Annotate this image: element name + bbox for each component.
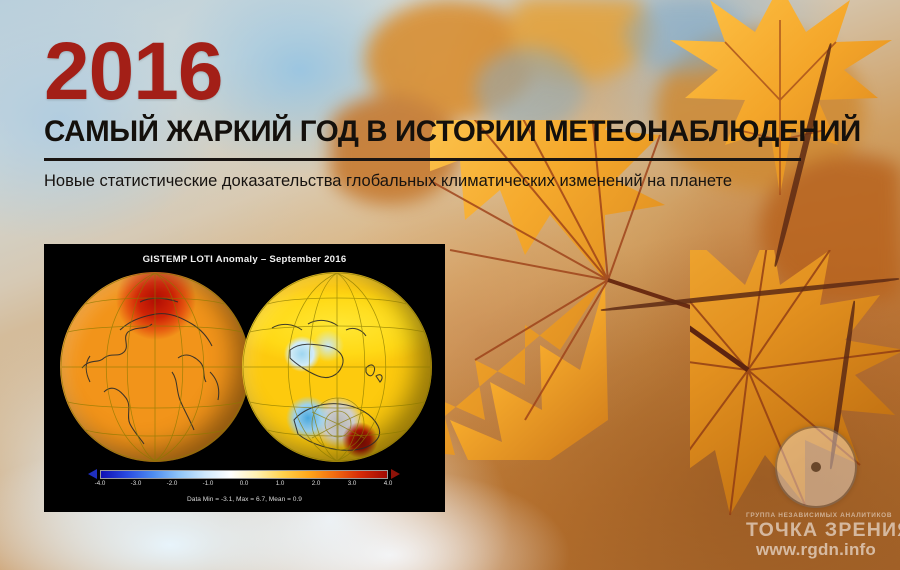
watermark-brand-name: ТОЧКА ЗРЕНИЯ [746, 519, 886, 541]
colorbar-tick-4: 0.0 [240, 480, 249, 487]
logo-dot-icon [811, 462, 821, 472]
map-figure-panel: GISTEMP LOTI Anomaly – September 2016 [44, 244, 445, 512]
globe-northern-atlantic [60, 272, 250, 462]
logo-circle-icon [775, 426, 857, 508]
colorbar-under-arrow-icon [88, 469, 97, 479]
page-headline: САМЫЙ ЖАРКИЙ ГОД В ИСТОРИИ МЕТЕОНАБЛЮДЕН… [44, 117, 884, 147]
colorbar-gradient-bar [100, 470, 388, 479]
colorbar-tick-5: 1.0 [276, 480, 285, 487]
page-title-year: 2016 [44, 34, 884, 109]
globe-right-graticule [242, 272, 432, 462]
colorbar-tick-8: 4.0 [384, 480, 393, 487]
headline-block: 2016 САМЫЙ ЖАРКИЙ ГОД В ИСТОРИИ МЕТЕОНАБ… [44, 34, 884, 191]
colorbar-tick-2: -2.0 [167, 480, 178, 487]
colorbar-tick-labels: -4.0-3.0-2.0-1.00.01.02.03.04.0 [100, 480, 388, 492]
colorbar-over-arrow-icon [391, 469, 400, 479]
watermark-kicker: ГРУППА НЕЗАВИСИМЫХ АНАЛИТИКОВ [746, 512, 886, 519]
poster-canvas: 2016 САМЫЙ ЖАРКИЙ ГОД В ИСТОРИИ МЕТЕОНАБ… [0, 0, 900, 570]
map-title: GISTEMP LOTI Anomaly – September 2016 [44, 254, 445, 265]
globe-left-graticule [60, 272, 250, 462]
colorbar-legend: -4.0-3.0-2.0-1.00.01.02.03.04.0 Data Min… [44, 466, 445, 512]
colorbar-tick-0: -4.0 [95, 480, 106, 487]
colorbar-tick-1: -3.0 [131, 480, 142, 487]
page-subtitle: Новые статистические доказательства глоб… [44, 172, 884, 191]
colorbar-tick-6: 2.0 [312, 480, 321, 487]
colorbar-tick-3: -1.0 [203, 480, 214, 487]
colorbar-tick-7: 3.0 [348, 480, 357, 487]
globe-southern-pacific [242, 272, 432, 462]
watermark-logo-block[interactable]: ГРУППА НЕЗАВИСИМЫХ АНАЛИТИКОВ ТОЧКА ЗРЕН… [746, 426, 886, 560]
watermark-url[interactable]: www.rgdn.info [746, 541, 886, 560]
divider-rule [44, 158, 801, 161]
map-stats-caption: Data Min = -3.1, Max = 6.7, Mean = 0.9 [44, 496, 445, 503]
